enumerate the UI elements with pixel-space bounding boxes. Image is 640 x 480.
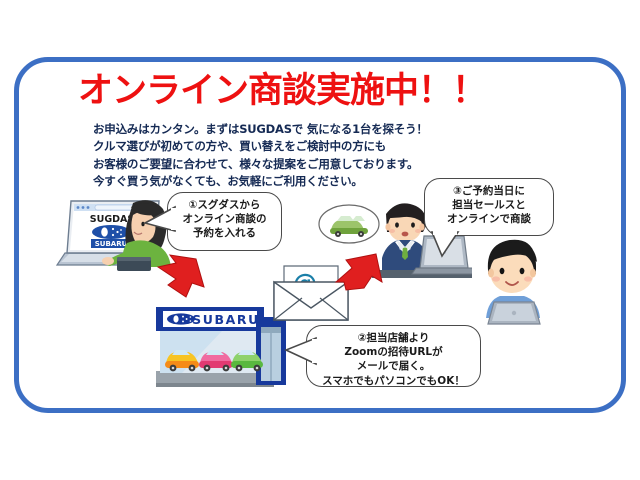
step-1-callout: ①スグダスから オンライン商談の 予約を入れる — [167, 192, 282, 251]
balloon-3-tail — [428, 230, 462, 260]
body-line-2: クルマ選びが初めての方や、買い替えをご検討中の方にも — [93, 138, 493, 155]
step-3-callout: ③ご予約当日に 担当セールスと オンラインで商談 — [424, 178, 554, 236]
step-2-line-4: スマホでもパソコンでもOK！ — [315, 374, 472, 388]
green-car-icon — [318, 202, 380, 246]
step-3-line-1: ③ご予約当日に — [433, 184, 545, 198]
balloon-2-tail — [284, 336, 318, 372]
promo-banner-canvas: オンライン商談実施中！！ お申込みはカンタン。まずはSUGDASで 気になる1台… — [0, 0, 640, 480]
subaru-dealership-icon: SUBARU — [152, 295, 292, 393]
balloon-1-tail — [143, 205, 177, 239]
step-2-callout: ②担当店舗より Zoomの招待URLが メールで届く。 スマホでもパソコンでもO… — [306, 325, 481, 387]
svg-text:SUBARU: SUBARU — [95, 240, 128, 248]
shop-sign-text: SUBARU — [192, 312, 260, 327]
body-line-1: お申込みはカンタン。まずはSUGDASで 気になる1台を探そう！ — [93, 121, 493, 138]
red-arrow-down-right-icon — [156, 253, 212, 301]
step-3-line-3: オンラインで商談 — [433, 212, 545, 226]
customer-at-laptop-icon — [478, 236, 564, 328]
step-1-line-2: オンライン商談の — [176, 212, 273, 226]
red-arrow-up-right-icon — [334, 252, 390, 300]
step-2-line-2: Zoomの招待URLが — [315, 345, 472, 359]
step-3-line-2: 担当セールスと — [433, 198, 545, 212]
step-2-line-1: ②担当店舗より — [315, 331, 472, 345]
body-line-3: お客様のご要望に合わせて、様々な提案をご用意しております。 — [93, 156, 493, 173]
step-2-line-3: メールで届く。 — [315, 359, 472, 373]
page-title: オンライン商談実施中！！ — [78, 74, 486, 109]
step-1-line-1: ①スグダスから — [176, 198, 273, 212]
step-1-line-3: 予約を入れる — [176, 226, 273, 240]
